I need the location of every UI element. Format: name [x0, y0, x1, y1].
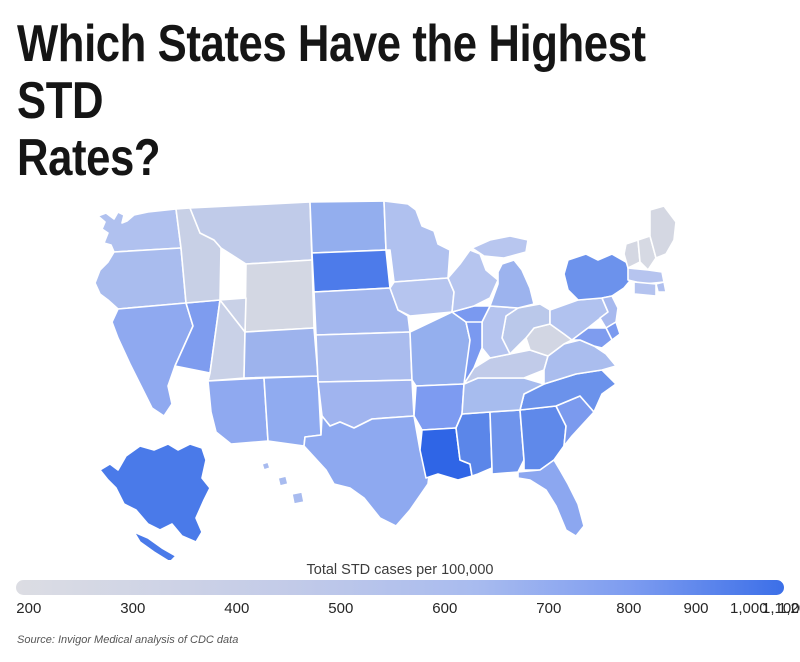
legend-tick: 1,200	[778, 600, 800, 617]
state-kansas[interactable]	[316, 332, 412, 382]
legend-caption: Total STD cases per 100,000	[0, 562, 800, 578]
state-alabama[interactable]	[490, 410, 524, 474]
state-rhode-island[interactable]	[656, 282, 666, 292]
state-arizona[interactable]	[208, 378, 268, 444]
legend-tick-labels: 2003004005006007008009001,0001,1001,200	[0, 600, 800, 622]
state-shapes	[95, 201, 676, 560]
page-title: Which States Have the Highest STD Rates?	[17, 16, 655, 187]
legend-tick: 700	[536, 600, 561, 617]
state-wyoming[interactable]	[245, 260, 314, 332]
legend-tick: 300	[120, 600, 145, 617]
state-hawaii-3[interactable]	[292, 492, 304, 504]
state-connecticut[interactable]	[634, 282, 656, 296]
state-iowa[interactable]	[390, 278, 454, 316]
infographic-page: Which States Have the Highest STD Rates?	[0, 0, 800, 662]
state-alaska-aleutians[interactable]	[134, 532, 176, 560]
legend-tick: 600	[432, 600, 457, 617]
state-texas[interactable]	[304, 416, 430, 526]
state-georgia[interactable]	[520, 406, 566, 470]
legend-tick: 200	[16, 600, 41, 617]
state-florida[interactable]	[518, 460, 584, 536]
legend-tick: 900	[683, 600, 708, 617]
state-hawaii[interactable]	[262, 462, 270, 470]
state-alaska[interactable]	[100, 444, 210, 542]
state-hawaii-2[interactable]	[278, 476, 288, 486]
state-south-dakota[interactable]	[312, 250, 390, 292]
state-north-dakota[interactable]	[310, 201, 386, 253]
state-oregon[interactable]	[95, 248, 186, 309]
us-choropleth-map	[78, 188, 724, 560]
state-new-york[interactable]	[564, 254, 634, 300]
state-minnesota[interactable]	[384, 201, 450, 282]
state-maine[interactable]	[650, 206, 676, 258]
source-note: Source: Invigor Medical analysis of CDC …	[17, 634, 238, 646]
legend-tick: 400	[224, 600, 249, 617]
state-arkansas[interactable]	[414, 384, 464, 430]
legend-colorbar	[16, 580, 784, 595]
legend-tick: 500	[328, 600, 353, 617]
state-washington[interactable]	[98, 209, 181, 252]
legend-tick: 800	[616, 600, 641, 617]
state-colorado[interactable]	[244, 328, 318, 378]
